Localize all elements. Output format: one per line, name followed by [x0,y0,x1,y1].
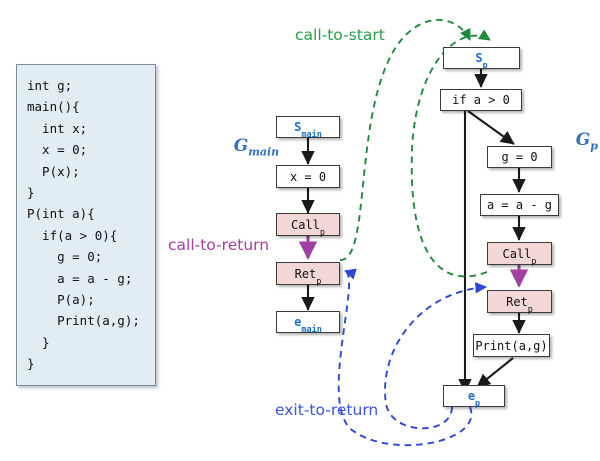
node-label: ep [468,389,480,403]
node-label: x = 0 [290,170,326,184]
node-x-assign[interactable]: x = 0 [276,165,340,188]
node-label: g = 0 [501,150,537,164]
node-label: emain [294,315,322,329]
node-label: Sp [475,51,487,65]
graph-label-p-sub: p [590,139,598,152]
node-print[interactable]: Print(a,g) [473,334,550,357]
label-call-to-return: call-to-return [168,236,269,254]
node-label: if a > 0 [452,93,510,107]
graph-label-p-text: G [576,130,591,150]
node-e-p[interactable]: ep [443,385,505,407]
node-call-p-p[interactable]: Callp [487,242,552,265]
node-label: Retp [506,295,533,309]
node-s-p[interactable]: Sp [443,47,520,69]
node-s-main[interactable]: Smain [276,116,340,138]
node-if-a[interactable]: if a > 0 [440,89,522,111]
label-call-to-start: call-to-start [295,26,385,44]
graph-label-p: Gp [552,110,598,172]
node-label: Callp [291,218,325,232]
node-ret-p-main[interactable]: Retp [276,262,340,285]
node-ret-p-p[interactable]: Retp [487,290,552,313]
node-label: Retp [295,267,322,281]
graph-label-main: Gmain [210,116,279,178]
graph-label-main-sub: main [248,145,279,158]
node-e-main[interactable]: emain [276,311,340,333]
node-label: a = a - g [487,198,552,212]
node-label: Smain [294,120,322,134]
node-call-p-main[interactable]: Callp [276,213,340,236]
exit-to-return-edges [339,271,486,445]
graph-label-main-text: G [234,136,249,156]
node-g-assign[interactable]: g = 0 [487,146,552,168]
node-label: Print(a,g) [475,339,547,353]
node-label: Callp [502,247,536,261]
node-a-assign[interactable]: a = a - g [480,194,559,216]
figure-canvas: int g; main(){ int x; x = 0; P(x); } P(i… [0,0,600,461]
label-exit-to-return: exit-to-return [275,401,378,419]
